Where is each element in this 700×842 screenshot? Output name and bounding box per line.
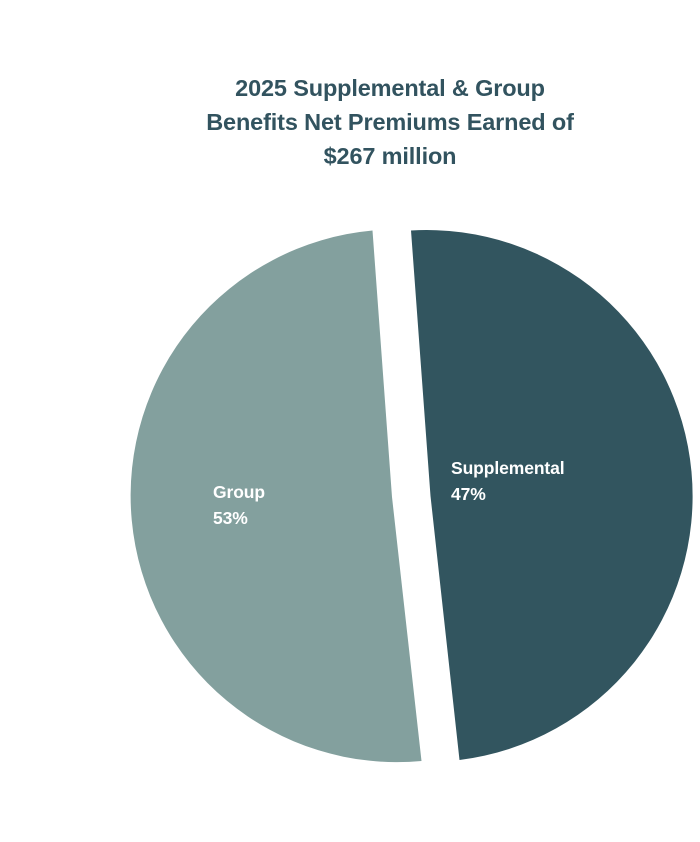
pie-chart-figure: 2025 Supplemental & Group Benefits Net P… bbox=[40, 16, 700, 842]
pie-slice-supplemental[interactable] bbox=[411, 230, 693, 760]
pie-slice-group[interactable] bbox=[131, 231, 422, 763]
pie-plot-area: Supplemental 47% Group 53% bbox=[40, 16, 700, 842]
pie-svg bbox=[40, 16, 700, 842]
